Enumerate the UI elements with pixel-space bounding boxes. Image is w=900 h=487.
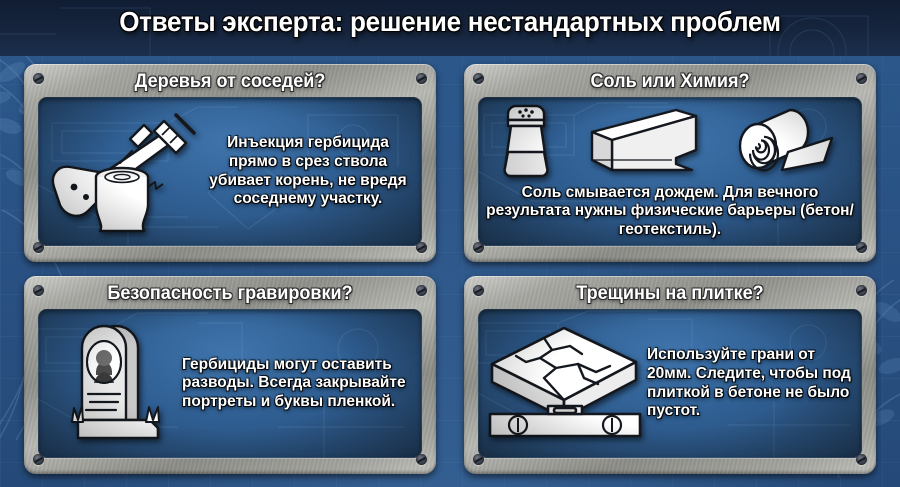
screw-bottom-left bbox=[473, 242, 484, 253]
card-body-salt: Соль смывается дождем. Для вечного резул… bbox=[486, 184, 854, 240]
screw-top-left bbox=[33, 73, 44, 84]
screw-bottom-left bbox=[473, 454, 484, 465]
card-icons bbox=[42, 322, 182, 446]
geotextile-roll-icon bbox=[728, 104, 840, 180]
card-screen: Соль смывается дождем. Для вечного резул… bbox=[478, 97, 862, 246]
card-content: Инъекция гербицида прямо в срез ствола у… bbox=[38, 97, 422, 246]
card-icons bbox=[44, 113, 204, 231]
gravestone-portrait-icon bbox=[50, 322, 174, 446]
salt-shaker-icon bbox=[500, 102, 552, 182]
concrete-curb-icon bbox=[580, 104, 700, 180]
header-banner: Ответы эксперта: решение нестандартных п… bbox=[0, 0, 900, 56]
screw-bottom-left bbox=[33, 242, 44, 253]
screw-top-left bbox=[473, 285, 484, 296]
card-body-trees: Инъекция гербицида прямо в срез ствола у… bbox=[204, 134, 412, 208]
card-title-salt: Соль или Химия? bbox=[499, 69, 841, 95]
screw-bottom-right bbox=[416, 454, 427, 465]
screw-bottom-right bbox=[416, 242, 427, 253]
card-title-tile: Трещины на плитке? bbox=[499, 281, 841, 307]
screw-top-left bbox=[33, 285, 44, 296]
screw-top-right bbox=[856, 285, 867, 296]
card-screen: Используйте грани от 20мм. Следите, чтоб… bbox=[478, 309, 862, 458]
card-screen: Гербициды могут оставить разводы. Всегда… bbox=[38, 309, 422, 458]
page-title: Ответы эксперта: решение нестандартных п… bbox=[32, 6, 869, 38]
card-content: Гербициды могут оставить разводы. Всегда… bbox=[38, 309, 422, 458]
screw-top-right bbox=[416, 285, 427, 296]
infographic-canvas: Ответы эксперта: решение нестандартных п… bbox=[0, 0, 900, 487]
card-content: Соль смывается дождем. Для вечного резул… bbox=[478, 97, 862, 246]
screw-top-left bbox=[473, 73, 484, 84]
card-body-engraving: Гербициды могут оставить разводы. Всегда… bbox=[182, 356, 414, 412]
card-icons bbox=[482, 322, 647, 446]
card-screen: Инъекция гербицида прямо в срез ствола у… bbox=[38, 97, 422, 246]
card-tile-cracks[interactable]: Трещины на плитке? bbox=[464, 276, 876, 474]
card-title-engraving: Безопасность гравировки? bbox=[59, 281, 401, 307]
card-body-tile: Используйте грани от 20мм. Следите, чтоб… bbox=[647, 346, 854, 420]
screw-bottom-left bbox=[33, 454, 44, 465]
card-title-trees: Деревья от соседей? bbox=[59, 69, 401, 95]
cards-grid: Деревья от соседей? bbox=[24, 64, 876, 474]
tree-stump-icon bbox=[96, 168, 148, 231]
card-engraving-safety[interactable]: Безопасность гравировки? bbox=[24, 276, 436, 474]
card-salt-or-chemistry[interactable]: Соль или Химия? bbox=[464, 64, 876, 262]
screw-bottom-right bbox=[856, 242, 867, 253]
card-icons bbox=[486, 102, 854, 182]
screw-top-right bbox=[856, 73, 867, 84]
screw-bottom-right bbox=[856, 454, 867, 465]
portrait-oval bbox=[87, 341, 121, 383]
card-trees[interactable]: Деревья от соседей? bbox=[24, 64, 436, 262]
screw-top-right bbox=[416, 73, 427, 84]
card-content: Используйте грани от 20мм. Следите, чтоб… bbox=[478, 309, 862, 458]
